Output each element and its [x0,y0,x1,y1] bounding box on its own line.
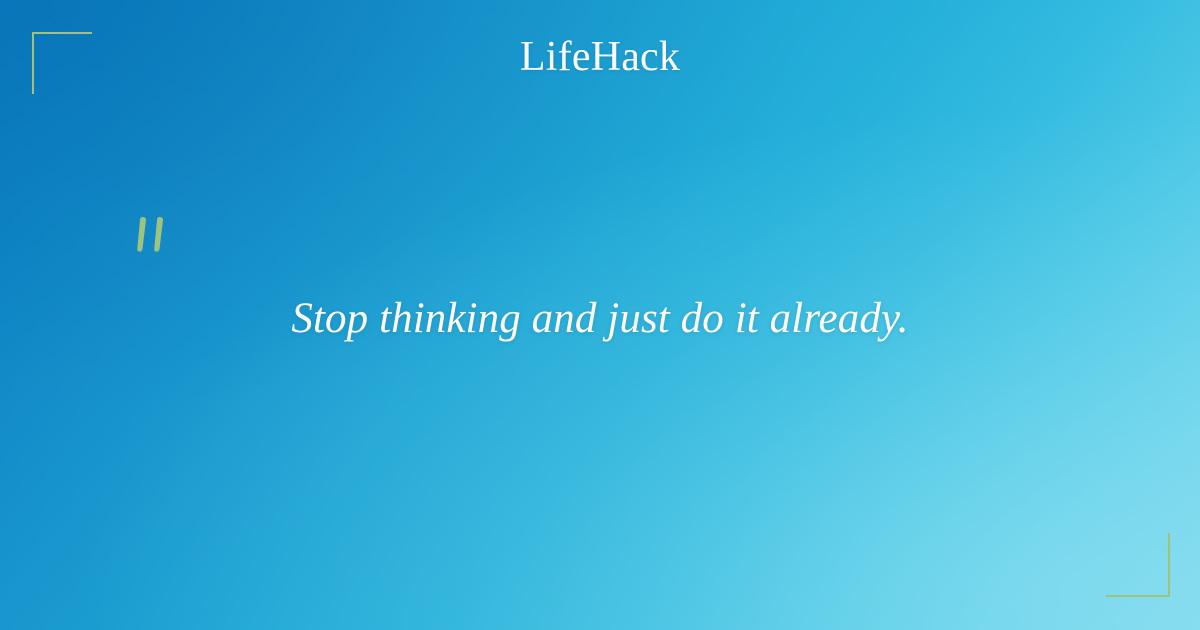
brand-logo: LifeHack [0,36,1200,78]
quote-card: LifeHack Stop thinking and just do it al… [0,0,1200,630]
bracket-top-edge [32,32,92,34]
bracket-bottom-edge [1106,595,1170,597]
corner-bracket-bottom-right-icon [1106,533,1170,597]
quote-text: Stop thinking and just do it already. [90,293,1110,345]
bracket-right-edge [1168,533,1170,597]
quotation-mark-icon [128,207,184,277]
